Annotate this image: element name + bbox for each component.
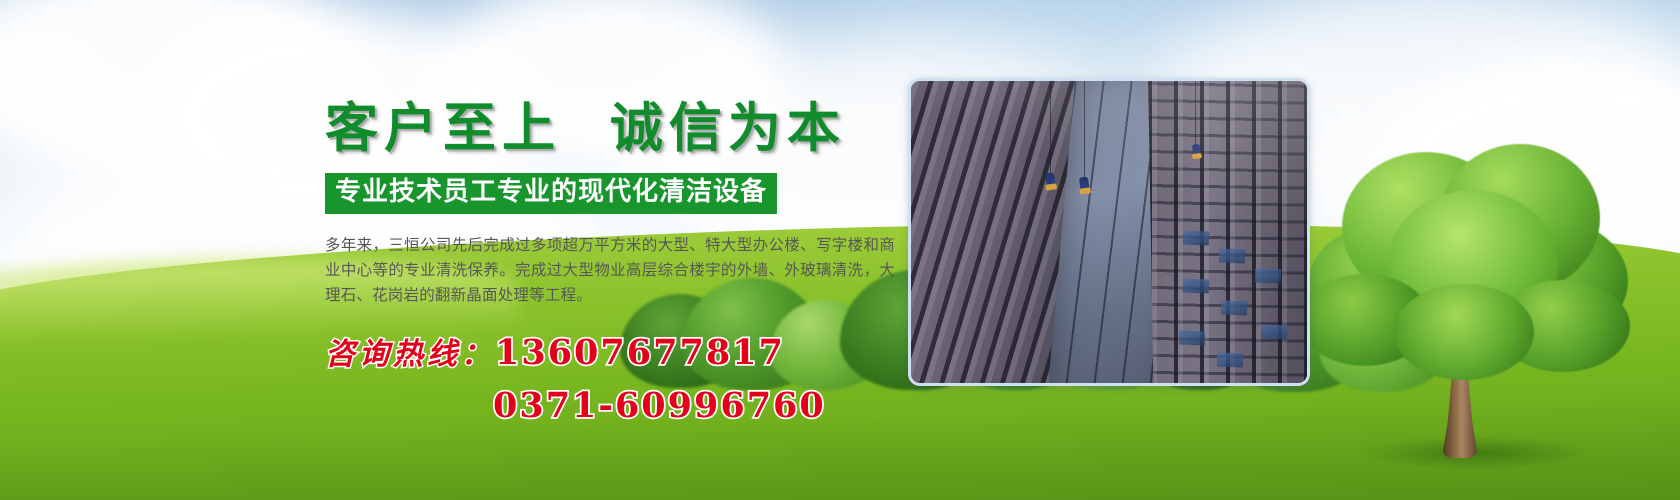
foreground-tree <box>1290 134 1640 464</box>
promotional-banner: 客户至上 诚信为本 专业技术员工专业的现代化清洁设备 多年来，三恒公司先后完成过… <box>0 0 1680 500</box>
text-content-block: 客户至上 诚信为本 专业技术员工专业的现代化清洁设备 多年来，三恒公司先后完成过… <box>325 96 900 436</box>
building-photo <box>911 81 1307 383</box>
hotline-row-secondary: 0371-60996760 <box>493 383 900 436</box>
hotline-block: 咨询热线：13607677817 0371-60996760 <box>325 330 900 436</box>
hotline-label: 咨询热线： <box>325 337 495 372</box>
hotline-primary-number[interactable]: 13607677817 <box>495 332 785 373</box>
hotline-secondary-number[interactable]: 0371-60996760 <box>493 385 826 426</box>
subtitle-bar: 专业技术员工专业的现代化清洁设备 <box>325 173 777 214</box>
headline: 客户至上 诚信为本 <box>325 96 900 161</box>
building-photo-panel[interactable] <box>908 78 1310 386</box>
description-paragraph: 多年来，三恒公司先后完成过多项超万平方米的大型、特大型办公楼、写字楼和商业中心等… <box>325 233 895 308</box>
hotline-row-primary: 咨询热线：13607677817 <box>325 330 900 383</box>
